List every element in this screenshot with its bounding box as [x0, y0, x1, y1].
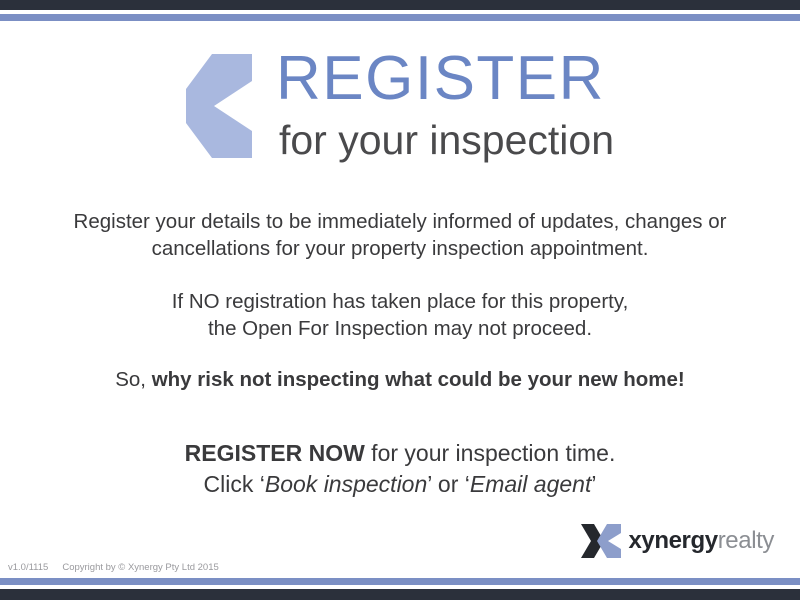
top-blue-stripe [0, 14, 800, 21]
cta-register-now-rest: for your inspection time. [365, 440, 616, 466]
brand-wordmark: xynergyrealty [628, 529, 774, 553]
brand-word-primary: xynergy [628, 527, 717, 554]
spacer-3 [0, 394, 800, 438]
brand-word-secondary: realty [718, 527, 774, 554]
cta-block: REGISTER NOW for your inspection time. C… [0, 438, 800, 500]
xynergy-x-mark-icon [581, 524, 621, 558]
quote-close-email: ’ [591, 471, 596, 497]
cta-click-middle: or [432, 471, 465, 497]
copyright-label: Copyright by © Xynergy Pty Ltd 2015 [62, 562, 218, 573]
paragraph-risk-lead: So, [115, 368, 151, 391]
body-copy: Register your details to be immediately … [0, 208, 800, 500]
page-title: REGISTER [276, 48, 605, 110]
paragraph-no-registration: If NO registration has taken place for t… [0, 288, 800, 342]
paragraph-updates-line1: Register your details to be immediately … [0, 208, 800, 235]
version-label: v1.0/1115 [8, 562, 48, 573]
register-inspection-page: REGISTER for your inspection Register yo… [0, 0, 800, 600]
chevron-left-icon [186, 54, 252, 158]
spacer-2 [0, 342, 800, 366]
paragraph-no-registration-line2: the Open For Inspection may not proceed. [0, 315, 800, 342]
bottom-dark-bar [0, 589, 800, 600]
spacer-1 [0, 262, 800, 288]
paragraph-no-registration-line1: If NO registration has taken place for t… [0, 288, 800, 315]
cta-book-inspection-label: Book inspection [265, 471, 427, 497]
legal-footer: v1.0/1115 Copyright by © Xynergy Pty Ltd… [8, 562, 219, 573]
paragraph-updates: Register your details to be immediately … [0, 208, 800, 262]
top-dark-bar [0, 0, 800, 10]
cta-click-lead: Click [204, 471, 260, 497]
cta-register-now-bold: REGISTER NOW [185, 440, 365, 466]
page-subtitle: for your inspection [279, 116, 614, 164]
xynergy-realty-logo: xynergyrealty [581, 524, 774, 558]
header-lockup: REGISTER for your inspection [0, 48, 800, 173]
bottom-blue-stripe [0, 578, 800, 585]
cta-line-click-actions: Click ‘Book inspection’ or ‘Email agent’ [0, 469, 800, 500]
cta-email-agent-label: Email agent [470, 471, 591, 497]
paragraph-risk-emphasis: why risk not inspecting what could be yo… [152, 368, 685, 391]
cta-line-register-now: REGISTER NOW for your inspection time. [0, 438, 800, 469]
paragraph-updates-line2: cancellations for your property inspecti… [0, 235, 800, 262]
paragraph-risk: So, why risk not inspecting what could b… [0, 366, 800, 394]
